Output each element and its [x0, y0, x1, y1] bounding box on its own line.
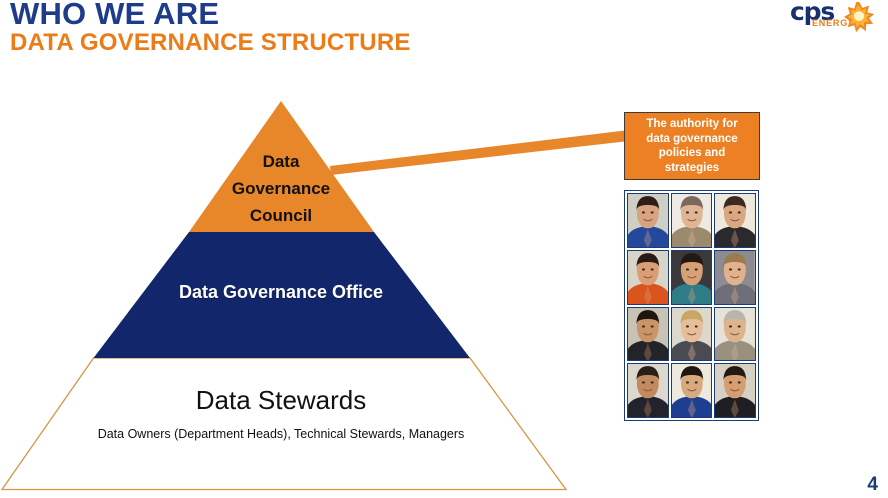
council-member-photo: [627, 307, 669, 362]
callout-line-3: policies and: [646, 146, 737, 161]
council-member-photo: [671, 307, 713, 362]
headshot-man-blond-suit-red-tie: [715, 251, 755, 304]
headshot-woman-dark-hair-blue-blazer: [628, 194, 668, 247]
headshot-woman-blonde-patterned-top: [672, 308, 712, 361]
council-member-photo: [671, 193, 713, 248]
council-member-photo: [714, 307, 756, 362]
pyramid-tier-stewards-sublabel: Data Owners (Department Heads), Technica…: [86, 426, 476, 442]
callout-text: The authority for data governance polici…: [642, 117, 741, 175]
pyramid-tier-stewards-label: Data Stewards: [96, 385, 466, 415]
callout-tail-connector: [330, 128, 630, 184]
pyramid-tier-stewards-shape: [2, 358, 566, 490]
callout-box: The authority for data governance polici…: [624, 112, 760, 180]
council-member-photo: [671, 363, 713, 418]
headshot-woman-dark-hair-black-top: [715, 364, 755, 417]
council-member-photo: [627, 193, 669, 248]
headshot-man-grey-hair-glasses-blazer: [715, 308, 755, 361]
council-member-photo: [671, 250, 713, 305]
council-member-photo: [627, 363, 669, 418]
council-member-photo-grid: [624, 190, 759, 421]
headshot-man-bald-glasses-tan-jacket: [672, 194, 712, 247]
council-member-photo: [627, 250, 669, 305]
pyramid-tier-office-label: Data Governance Office: [96, 281, 466, 303]
callout-line-2: data governance: [646, 132, 737, 147]
headshot-woman-smiling-orange-top: [628, 251, 668, 304]
pyramid-diagram: Data Governance Council Data Governance …: [0, 0, 600, 498]
cps-energy-logo: cps ENERGY: [790, 1, 882, 35]
headshot-man-beard-teal-shirt: [672, 251, 712, 304]
slide-canvas: WHO WE ARE DATA GOVERNANCE STRUCTURE cps…: [0, 0, 888, 498]
callout-line-4: strategies: [646, 161, 737, 176]
council-member-photo: [714, 363, 756, 418]
council-member-photo: [714, 250, 756, 305]
council-member-photo: [714, 193, 756, 248]
page-number: 4: [867, 474, 878, 496]
headshot-man-short-hair-dark-shirt: [715, 194, 755, 247]
starburst-icon: [842, 1, 876, 33]
headshot-woman-glasses-dark-top: [628, 308, 668, 361]
pyramid-shapes: [0, 0, 600, 498]
council-label-line-3: Council: [186, 202, 376, 229]
callout-line-1: The authority for: [646, 117, 737, 132]
headshot-man-suit-striped-tie: [628, 364, 668, 417]
headshot-woman-long-hair-blue-top: [672, 364, 712, 417]
